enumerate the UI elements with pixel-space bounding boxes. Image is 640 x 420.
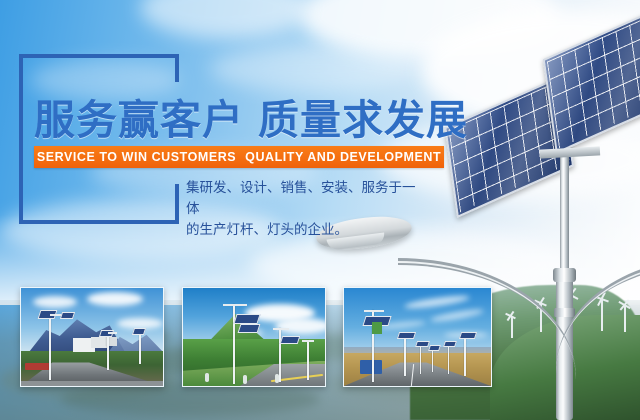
thumbnail-green-hills[interactable]	[182, 287, 326, 387]
thumbnail-mountain-road[interactable]	[20, 287, 164, 387]
hero-banner: 服务赢客户质量求发展 SERVICE TO WIN CUSTOMERSQUALI…	[0, 0, 640, 420]
thumbnail-highway[interactable]	[343, 287, 492, 387]
thumbnail-strip	[0, 0, 640, 420]
